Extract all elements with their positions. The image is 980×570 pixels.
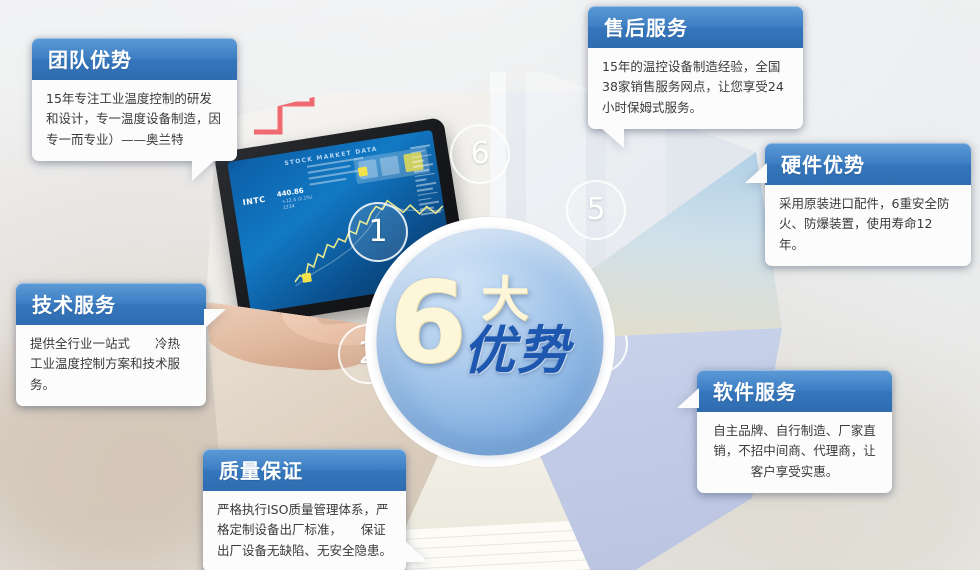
callout-quality-title: 质量保证 <box>203 449 406 491</box>
callout-aftersales[interactable]: 售后服务 15年的温控设备制造经验，全国38家销售服务网点，让您享受24小时保姆… <box>588 6 803 129</box>
callout-aftersales-title: 售后服务 <box>588 6 803 48</box>
poster-canvas: STOCK MARKET DATA INTC 440.86 +12.4 (2.1… <box>0 0 980 570</box>
badge-number-6: 6 <box>450 124 510 184</box>
callout-hardware-wrap: 硬件优势 采用原装进口配件，6重安全防火、防爆装置，使用寿命12年。 <box>765 143 971 266</box>
callout-hardware-body: 采用原装进口配件，6重安全防火、防爆装置，使用寿命12年。 <box>765 185 971 266</box>
callout-hardware[interactable]: 硬件优势 采用原装进口配件，6重安全防火、防爆装置，使用寿命12年。 <box>765 143 971 266</box>
callout-hardware-pointer <box>745 163 767 183</box>
center-logo: 6 大 优势 <box>385 267 595 417</box>
callout-team-title: 团队优势 <box>32 38 237 80</box>
callout-tech-wrap: 技术服务 提供全行业一站式 冷热工业温度控制方案和技术服务。 <box>16 283 206 406</box>
callout-team-body: 15年专注工业温度控制的研发和设计，专一温度设备制造，因专一而专业）——奥兰特 <box>32 80 237 161</box>
center-word: 优势 <box>463 325 571 377</box>
center-number: 6 <box>389 271 465 375</box>
callout-team[interactable]: 团队优势 15年专注工业温度控制的研发和设计，专一温度设备制造，因专一而专业）—… <box>32 38 237 161</box>
center-unit-char: 大 <box>481 275 529 323</box>
callout-quality-pointer <box>404 540 428 562</box>
callout-software-body: 自主品牌、自行制造、厂家直销，不招中间商、代理商，让客户享受实惠。 <box>697 412 892 493</box>
callout-quality-wrap: 质量保证 严格执行ISO质量管理体系，严格定制设备出厂标准， 保证出厂设备无缺陷… <box>203 449 406 570</box>
callout-software-pointer <box>677 388 699 408</box>
callout-software-wrap: 软件服务 自主品牌、自行制造、厂家直销，不招中间商、代理商，让客户享受实惠。 <box>697 370 892 493</box>
center-disc[interactable]: 6 大 优势 <box>377 229 604 456</box>
callout-tech-pointer <box>204 309 226 329</box>
callout-quality-body: 严格执行ISO质量管理体系，严格定制设备出厂标准， 保证出厂设备无缺陷、无安全隐… <box>203 491 406 570</box>
callout-software[interactable]: 软件服务 自主品牌、自行制造、厂家直销，不招中间商、代理商，让客户享受实惠。 <box>697 370 892 493</box>
callout-tech-body: 提供全行业一站式 冷热工业温度控制方案和技术服务。 <box>16 325 206 406</box>
callout-aftersales-wrap: 售后服务 15年的温控设备制造经验，全国38家销售服务网点，让您享受24小时保姆… <box>588 6 803 129</box>
callout-team-pointer <box>192 159 216 181</box>
callout-tech[interactable]: 技术服务 提供全行业一站式 冷热工业温度控制方案和技术服务。 <box>16 283 206 406</box>
callout-hardware-title: 硬件优势 <box>765 143 971 185</box>
callout-quality[interactable]: 质量保证 严格执行ISO质量管理体系，严格定制设备出厂标准， 保证出厂设备无缺陷… <box>203 449 406 570</box>
callout-aftersales-body: 15年的温控设备制造经验，全国38家销售服务网点，让您享受24小时保姆式服务。 <box>588 48 803 129</box>
callout-software-title: 软件服务 <box>697 370 892 412</box>
callout-tech-title: 技术服务 <box>16 283 206 325</box>
callout-team-wrap: 团队优势 15年专注工业温度控制的研发和设计，专一温度设备制造，因专一而专业）—… <box>32 38 237 161</box>
badge-number-5: 5 <box>566 180 626 240</box>
callout-aftersales-pointer <box>600 127 624 148</box>
